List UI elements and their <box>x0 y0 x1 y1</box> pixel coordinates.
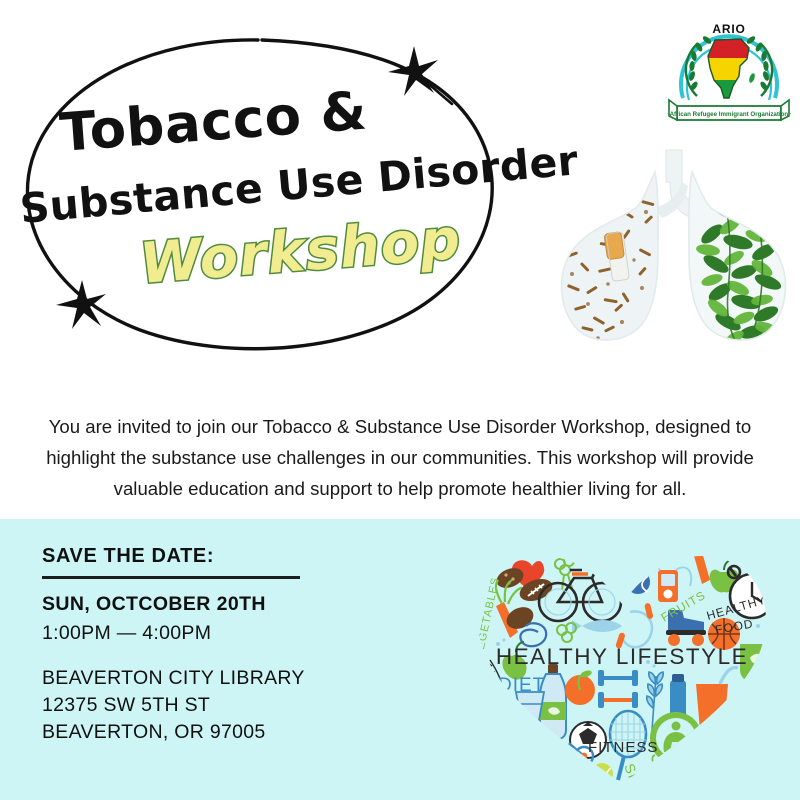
running-shoe-icon <box>735 686 786 716</box>
ario-logo: ARIO ★ African Refugee Immigrant Organiz… <box>667 6 791 130</box>
collage-word-sport: SPORT <box>621 761 656 792</box>
collage-word-diet: DIET <box>498 675 545 696</box>
poster-canvas: ARIO ★ African Refugee Immigrant Organiz… <box>0 0 800 800</box>
collage-word-fitness: FITNESS <box>588 739 658 756</box>
save-the-date-heading: SAVE THE DATE: <box>42 545 372 568</box>
logo-acronym-text: ARIO <box>712 22 745 36</box>
logo-banner-text: ★ African Refugee Immigrant Organization… <box>667 111 791 118</box>
event-time: 1:00PM — 4:00PM <box>42 622 372 645</box>
lungs-illustration <box>552 142 800 360</box>
venue-street: 12375 SW 5TH ST <box>42 692 372 719</box>
save-the-date-block: SAVE THE DATE: SUN, OCTCOBER 20TH 1:00PM… <box>42 545 372 746</box>
sparkle-star-top-icon <box>388 46 452 104</box>
intro-paragraph: You are invited to join our Tobacco & Su… <box>40 411 760 504</box>
event-date: SUN, OCTCOBER 20TH <box>42 593 372 616</box>
title-block: Tobacco & Substance Use Disorder Worksho… <box>0 0 560 370</box>
venue-city-state-zip: BEAVERTON, OR 97005 <box>42 719 372 746</box>
collage-main-text: HEALTHY LIFESTYLE <box>496 644 748 669</box>
venue-name: BEAVERTON CITY LIBRARY <box>42 665 372 692</box>
sparkle-star-bottom-icon <box>56 280 106 329</box>
healthy-lifestyle-heart-collage: HEALTHY LIFESTYLE DIET FITNESS SPORT VEG… <box>452 534 792 792</box>
divider-rule <box>42 576 300 579</box>
